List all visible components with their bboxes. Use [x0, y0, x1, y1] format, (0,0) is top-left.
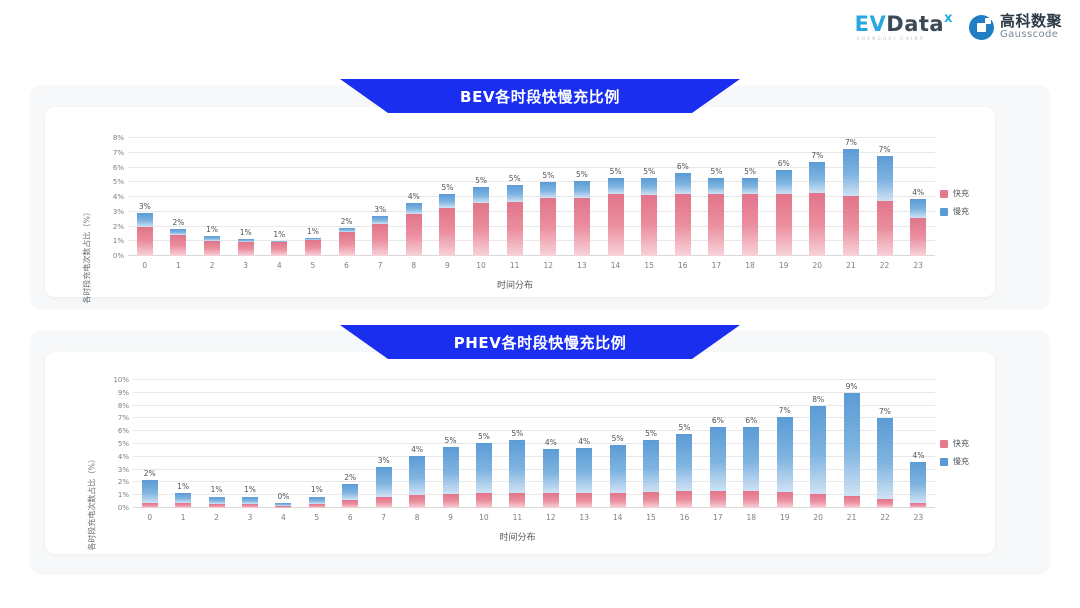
phev-chart: 各时段充电次数占比（%）2%1%1%1%0%1%2%3%4%5%5%5%4%4%…: [100, 380, 935, 530]
bar-column[interactable]: 7%: [868, 380, 901, 508]
bar-column[interactable]: 5%: [464, 138, 498, 256]
gausscode-logo-en: Gausscode: [1000, 30, 1062, 41]
plot-area: 2%1%1%1%0%1%2%3%4%5%5%5%4%4%5%5%5%6%6%7%…: [133, 380, 935, 508]
x-axis-tick: 12: [532, 261, 566, 270]
y-axis-ticks: 0%1%2%3%4%5%6%7%8%9%10%: [100, 380, 133, 508]
bar-value-label: 7%: [779, 406, 791, 415]
bar-column[interactable]: 1%: [166, 380, 199, 508]
x-axis-tick: 1: [162, 261, 196, 270]
stacked-bar[interactable]: [810, 406, 826, 508]
bar-segment-slow: [476, 443, 492, 494]
bar-value-label: 1%: [244, 485, 256, 494]
x-axis-label: 时间分布: [497, 278, 533, 291]
stacked-bar[interactable]: [439, 194, 455, 256]
stacked-bar[interactable]: [342, 484, 358, 508]
y-axis-tick: 4%: [118, 453, 129, 461]
stacked-bar[interactable]: [910, 462, 926, 508]
bar-segment-slow: [175, 493, 191, 503]
x-axis-tick: 21: [835, 513, 868, 522]
logo-group: EV Data x SHANGHAI CHINA 高科数聚 Gausscode: [855, 12, 1062, 42]
bar-segment-fast: [209, 504, 225, 508]
bar-column[interactable]: 7%: [834, 138, 868, 256]
x-axis-tick: 18: [735, 513, 768, 522]
bar-value-label: 8%: [812, 395, 824, 404]
legend-label-slow: 慢充: [953, 206, 969, 217]
stacked-bar[interactable]: [309, 496, 325, 508]
bar-value-label: 5%: [643, 167, 655, 176]
bar-segment-slow: [610, 445, 626, 493]
bar-segment-slow: [507, 185, 523, 202]
x-axis-ticks: 01234567891011121314151617181920212223: [133, 513, 935, 522]
bar-segment-fast: [271, 242, 287, 256]
bar-column[interactable]: 2%: [330, 138, 364, 256]
x-axis-tick: 9: [434, 513, 467, 522]
bev-title-banner: BEV各时段快慢充比例: [340, 79, 740, 113]
y-axis-tick: 2%: [118, 478, 129, 486]
x-axis-tick: 1: [166, 513, 199, 522]
x-axis-tick: 20: [801, 261, 835, 270]
bar-value-label: 0%: [277, 492, 289, 501]
bar-column[interactable]: 4%: [397, 138, 431, 256]
bar-column[interactable]: 6%: [767, 138, 801, 256]
bar-column[interactable]: 5%: [565, 138, 599, 256]
bar-segment-fast: [406, 214, 422, 256]
bar-value-label: 5%: [509, 174, 521, 183]
stacked-bar[interactable]: [877, 418, 893, 508]
y-axis-tick: 7%: [118, 414, 129, 422]
y-axis-tick: 4%: [113, 193, 124, 201]
bar-column[interactable]: 5%: [634, 380, 667, 508]
x-axis-tick: 3: [229, 261, 263, 270]
legend-item-fast: 快充: [940, 438, 969, 449]
bar-column[interactable]: 3%: [363, 138, 397, 256]
legend-label-fast: 快充: [953, 188, 969, 199]
stacked-bar[interactable]: [877, 156, 893, 256]
y-axis-tick: 10%: [113, 376, 129, 384]
bar-segment-slow: [810, 406, 826, 494]
stacked-bar[interactable]: [443, 447, 459, 508]
x-axis-tick: 2: [200, 513, 233, 522]
bar-value-label: 5%: [441, 183, 453, 192]
stacked-bar[interactable]: [476, 443, 492, 508]
bar-segment-fast: [443, 494, 459, 508]
bar-value-label: 5%: [478, 432, 490, 441]
bar-column[interactable]: 5%: [599, 138, 633, 256]
phev-title-banner: PHEV各时段快慢充比例: [340, 325, 740, 359]
x-axis-tick: 0: [133, 513, 166, 522]
bar-column[interactable]: 5%: [733, 138, 767, 256]
stacked-bar[interactable]: [843, 149, 859, 256]
stacked-bar[interactable]: [574, 181, 590, 256]
bar-value-label: 2%: [144, 469, 156, 478]
bar-value-label: 1%: [211, 485, 223, 494]
legend-item-slow: 慢充: [940, 456, 969, 467]
bar-segment-slow: [137, 213, 153, 228]
bar-group: 2%1%1%1%0%1%2%3%4%5%5%5%4%4%5%5%5%6%6%7%…: [133, 380, 935, 508]
bar-value-label: 4%: [578, 437, 590, 446]
stacked-bar[interactable]: [473, 187, 489, 256]
x-axis-tick: 5: [300, 513, 333, 522]
x-axis-tick: 14: [599, 261, 633, 270]
bar-segment-fast: [809, 193, 825, 256]
y-axis-tick: 5%: [113, 178, 124, 186]
bar-value-label: 7%: [879, 407, 891, 416]
stacked-bar[interactable]: [137, 213, 153, 257]
evdata-logo-part2: Data: [886, 12, 944, 36]
bar-segment-fast: [170, 235, 186, 256]
bar-value-label: 1%: [240, 228, 252, 237]
bar-column[interactable]: 1%: [263, 138, 297, 256]
stacked-bar[interactable]: [305, 238, 321, 256]
bar-segment-fast: [142, 503, 158, 508]
y-axis-label: 各时段充电次数占比（%）: [82, 208, 93, 304]
bar-column[interactable]: 6%: [666, 138, 700, 256]
bar-segment-slow: [910, 199, 926, 218]
stacked-bar[interactable]: [242, 496, 258, 508]
x-axis-tick: 22: [868, 261, 902, 270]
bar-column[interactable]: 4%: [901, 138, 935, 256]
bar-value-label: 4%: [912, 188, 924, 197]
bar-segment-slow: [776, 170, 792, 194]
x-axis-tick: 15: [634, 513, 667, 522]
bar-column[interactable]: 2%: [133, 380, 166, 508]
x-axis-tick: 7: [363, 261, 397, 270]
bar-segment-fast: [473, 203, 489, 256]
bar-column[interactable]: 9%: [835, 380, 868, 508]
bar-value-label: 9%: [846, 382, 858, 391]
slide-page: EV Data x SHANGHAI CHINA 高科数聚 Gausscode …: [0, 0, 1080, 608]
stacked-bar[interactable]: [710, 427, 726, 508]
bar-segment-fast: [507, 202, 523, 256]
bev-title-text: BEV各时段快慢充比例: [460, 86, 620, 107]
bar-segment-fast: [643, 492, 659, 508]
bar-column[interactable]: 5%: [501, 380, 534, 508]
bar-column[interactable]: 4%: [567, 380, 600, 508]
stacked-bar[interactable]: [809, 162, 825, 256]
x-axis-tick: 14: [601, 513, 634, 522]
bar-segment-fast: [777, 492, 793, 508]
bar-segment-slow: [543, 449, 559, 493]
x-axis-tick: 6: [334, 513, 367, 522]
y-axis-tick: 2%: [113, 223, 124, 231]
bar-segment-slow: [170, 229, 186, 236]
x-axis-tick: 2: [195, 261, 229, 270]
bar-segment-fast: [843, 196, 859, 256]
bar-segment-fast: [910, 218, 926, 256]
bar-value-label: 5%: [475, 176, 487, 185]
stacked-bar[interactable]: [170, 229, 186, 256]
bar-segment-fast: [309, 504, 325, 508]
x-axis-tick: 8: [400, 513, 433, 522]
bar-value-label: 5%: [710, 167, 722, 176]
x-axis-tick: 16: [666, 261, 700, 270]
bar-column[interactable]: 7%: [868, 138, 902, 256]
x-axis-tick: 23: [902, 513, 935, 522]
bar-segment-fast: [242, 504, 258, 508]
bar-value-label: 5%: [576, 170, 588, 179]
legend-label-slow: 慢充: [953, 456, 969, 467]
bar-segment-fast: [910, 503, 926, 508]
bar-column[interactable]: 7%: [801, 138, 835, 256]
bar-column[interactable]: 6%: [735, 380, 768, 508]
stacked-bar[interactable]: [339, 228, 355, 256]
bar-value-label: 2%: [172, 218, 184, 227]
bar-segment-fast: [509, 493, 525, 508]
phev-legend: 快充 慢充: [940, 438, 969, 467]
stacked-bar[interactable]: [676, 434, 692, 508]
bar-group: 3%2%1%1%1%1%2%3%4%5%5%5%5%5%5%5%6%5%5%6%…: [128, 138, 935, 256]
bar-segment-fast: [877, 499, 893, 508]
x-axis-tick: 3: [233, 513, 266, 522]
bar-value-label: 4%: [411, 445, 423, 454]
bar-column[interactable]: 5%: [434, 380, 467, 508]
stacked-bar[interactable]: [204, 236, 220, 256]
stacked-bar[interactable]: [409, 456, 425, 508]
bar-value-label: 4%: [912, 451, 924, 460]
x-axis-tick: 18: [733, 261, 767, 270]
bar-segment-slow: [209, 497, 225, 505]
evdata-logo-icon: EV Data x SHANGHAI CHINA: [855, 12, 953, 42]
x-axis-tick: 0: [128, 261, 162, 270]
bar-segment-slow: [376, 467, 392, 497]
bar-value-label: 5%: [744, 167, 756, 176]
bar-segment-slow: [473, 187, 489, 202]
stacked-bar[interactable]: [641, 178, 657, 256]
stacked-bar[interactable]: [776, 170, 792, 256]
bar-value-label: 1%: [307, 227, 319, 236]
x-axis-tick: 19: [768, 513, 801, 522]
bar-segment-fast: [877, 201, 893, 256]
stacked-bar[interactable]: [238, 239, 254, 256]
bar-value-label: 1%: [177, 482, 189, 491]
stacked-bar[interactable]: [675, 173, 691, 256]
x-axis-tick: 22: [868, 513, 901, 522]
plot-area: 3%2%1%1%1%1%2%3%4%5%5%5%5%5%5%5%6%5%5%6%…: [128, 138, 935, 256]
x-axis-tick: 23: [901, 261, 935, 270]
bar-value-label: 6%: [778, 159, 790, 168]
bar-segment-fast: [409, 495, 425, 508]
stacked-bar[interactable]: [777, 417, 793, 508]
x-axis-ticks: 01234567891011121314151617181920212223: [128, 261, 935, 270]
x-axis-tick: 7: [367, 513, 400, 522]
y-axis-tick: 8%: [113, 134, 124, 142]
x-axis-tick: 9: [431, 261, 465, 270]
bar-segment-slow: [743, 427, 759, 491]
stacked-bar[interactable]: [271, 241, 287, 256]
bev-legend: 快充 慢充: [940, 188, 969, 217]
bar-segment-slow: [777, 417, 793, 492]
x-axis-tick: 21: [834, 261, 868, 270]
stacked-bar[interactable]: [142, 480, 158, 508]
bar-segment-fast: [175, 503, 191, 508]
y-axis-tick: 0%: [118, 504, 129, 512]
bar-column[interactable]: 6%: [701, 380, 734, 508]
x-axis-label: 时间分布: [499, 530, 535, 543]
bar-value-label: 1%: [273, 230, 285, 239]
bar-column[interactable]: 4%: [400, 380, 433, 508]
bar-column[interactable]: 4%: [534, 380, 567, 508]
stacked-bar[interactable]: [543, 449, 559, 508]
bar-segment-slow: [708, 178, 724, 194]
bar-column[interactable]: 0%: [267, 380, 300, 508]
y-axis-tick: 8%: [118, 402, 129, 410]
bar-value-label: 6%: [677, 162, 689, 171]
bar-segment-fast: [810, 494, 826, 508]
bar-column[interactable]: 1%: [296, 138, 330, 256]
bar-value-label: 7%: [879, 145, 891, 154]
bar-column[interactable]: 5%: [668, 380, 701, 508]
x-axis-tick: 11: [501, 513, 534, 522]
bar-column[interactable]: 5%: [700, 138, 734, 256]
bar-column[interactable]: 5%: [601, 380, 634, 508]
bar-column[interactable]: 2%: [334, 380, 367, 508]
x-axis-tick: 15: [632, 261, 666, 270]
stacked-bar[interactable]: [372, 216, 388, 256]
bar-segment-fast: [540, 198, 556, 256]
bar-segment-slow: [877, 156, 893, 201]
bar-segment-fast: [439, 208, 455, 256]
bar-segment-slow: [406, 203, 422, 214]
bar-column[interactable]: 5%: [632, 138, 666, 256]
bar-segment-slow: [372, 216, 388, 224]
bar-segment-slow: [342, 484, 358, 500]
bar-value-label: 1%: [206, 225, 218, 234]
x-axis-tick: 13: [567, 513, 600, 522]
evdata-logo-subtitle: SHANGHAI CHINA: [857, 37, 925, 42]
stacked-bar[interactable]: [743, 427, 759, 508]
bar-value-label: 4%: [408, 192, 420, 201]
bar-segment-slow: [509, 440, 525, 493]
legend-swatch-fast-icon: [940, 190, 948, 198]
bar-value-label: 3%: [378, 456, 390, 465]
gausscode-logo-icon: 高科数聚 Gausscode: [969, 14, 1062, 40]
bar-value-label: 7%: [845, 138, 857, 147]
bar-column[interactable]: 1%: [200, 380, 233, 508]
x-axis-tick: 17: [700, 261, 734, 270]
x-axis-tick: 17: [701, 513, 734, 522]
bar-segment-fast: [372, 224, 388, 256]
bar-value-label: 6%: [745, 416, 757, 425]
bar-segment-slow: [443, 447, 459, 494]
bar-segment-fast: [305, 240, 321, 256]
stacked-bar[interactable]: [742, 178, 758, 256]
bar-column[interactable]: 3%: [128, 138, 162, 256]
bar-column[interactable]: 5%: [498, 138, 532, 256]
y-axis-tick: 1%: [113, 237, 124, 245]
bar-value-label: 5%: [679, 423, 691, 432]
bar-column[interactable]: 1%: [195, 138, 229, 256]
bar-segment-slow: [877, 418, 893, 499]
stacked-bar[interactable]: [708, 178, 724, 256]
stacked-bar[interactable]: [376, 467, 392, 508]
stacked-bar[interactable]: [275, 503, 291, 508]
stacked-bar[interactable]: [910, 199, 926, 256]
bar-column[interactable]: 8%: [801, 380, 834, 508]
stacked-bar[interactable]: [608, 178, 624, 256]
x-axis-tick: 13: [565, 261, 599, 270]
bar-segment-fast: [476, 493, 492, 508]
bar-segment-fast: [708, 194, 724, 256]
legend-label-fast: 快充: [953, 438, 969, 449]
bar-segment-fast: [610, 493, 626, 508]
y-axis-tick: 7%: [113, 149, 124, 157]
stacked-bar[interactable]: [209, 496, 225, 508]
bar-column[interactable]: 1%: [229, 138, 263, 256]
y-axis-tick: 0%: [113, 252, 124, 260]
x-axis-tick: 6: [330, 261, 364, 270]
phev-title-text: PHEV各时段快慢充比例: [454, 332, 627, 353]
legend-item-slow: 慢充: [940, 206, 969, 217]
bar-segment-fast: [339, 232, 355, 256]
bar-segment-slow: [409, 456, 425, 496]
x-axis-tick: 20: [801, 513, 834, 522]
bar-segment-fast: [742, 194, 758, 256]
bar-segment-fast: [137, 227, 153, 256]
bar-column[interactable]: 1%: [233, 380, 266, 508]
bar-column[interactable]: 2%: [162, 138, 196, 256]
bar-column[interactable]: 1%: [300, 380, 333, 508]
bar-value-label: 5%: [610, 167, 622, 176]
stacked-bar[interactable]: [576, 448, 592, 508]
bar-segment-fast: [543, 493, 559, 508]
evdata-logo-mark: x: [944, 11, 953, 26]
legend-item-fast: 快充: [940, 188, 969, 199]
x-axis-tick: 5: [296, 261, 330, 270]
bar-segment-slow: [576, 448, 592, 493]
bar-value-label: 5%: [445, 436, 457, 445]
bar-segment-slow: [574, 181, 590, 198]
bar-value-label: 7%: [811, 151, 823, 160]
bar-column[interactable]: 5%: [467, 380, 500, 508]
stacked-bar[interactable]: [610, 445, 626, 508]
x-axis-tick: 11: [498, 261, 532, 270]
bar-segment-slow: [742, 178, 758, 194]
stacked-bar[interactable]: [844, 393, 860, 508]
bar-segment-fast: [608, 194, 624, 256]
bar-column[interactable]: 7%: [768, 380, 801, 508]
bar-value-label: 3%: [374, 205, 386, 214]
bar-segment-fast: [376, 497, 392, 508]
bar-column[interactable]: 5%: [532, 138, 566, 256]
bar-value-label: 2%: [344, 473, 356, 482]
evdata-logo-part1: EV: [855, 12, 887, 36]
bar-value-label: 5%: [645, 429, 657, 438]
bar-column[interactable]: 4%: [902, 380, 935, 508]
x-axis-tick: 16: [668, 513, 701, 522]
gausscode-logo-cn: 高科数聚: [1000, 14, 1062, 30]
bar-segment-fast: [576, 493, 592, 508]
stacked-bar[interactable]: [507, 185, 523, 256]
bar-segment-slow: [540, 182, 556, 198]
x-axis-tick: 12: [534, 513, 567, 522]
bar-segment-fast: [204, 241, 220, 256]
bar-column[interactable]: 3%: [367, 380, 400, 508]
x-axis-tick: 10: [464, 261, 498, 270]
stacked-bar[interactable]: [540, 182, 556, 256]
stacked-bar[interactable]: [643, 440, 659, 508]
bar-segment-slow: [608, 178, 624, 194]
legend-swatch-slow-icon: [940, 208, 948, 216]
stacked-bar[interactable]: [509, 440, 525, 508]
bar-value-label: 2%: [341, 217, 353, 226]
bar-column[interactable]: 5%: [431, 138, 465, 256]
bar-segment-slow: [643, 440, 659, 492]
stacked-bar[interactable]: [406, 203, 422, 256]
bev-chart: 各时段充电次数占比（%）3%2%1%1%1%1%2%3%4%5%5%5%5%5%…: [95, 138, 935, 278]
stacked-bar[interactable]: [175, 493, 191, 508]
bar-value-label: 5%: [612, 434, 624, 443]
bar-value-label: 3%: [139, 202, 151, 211]
